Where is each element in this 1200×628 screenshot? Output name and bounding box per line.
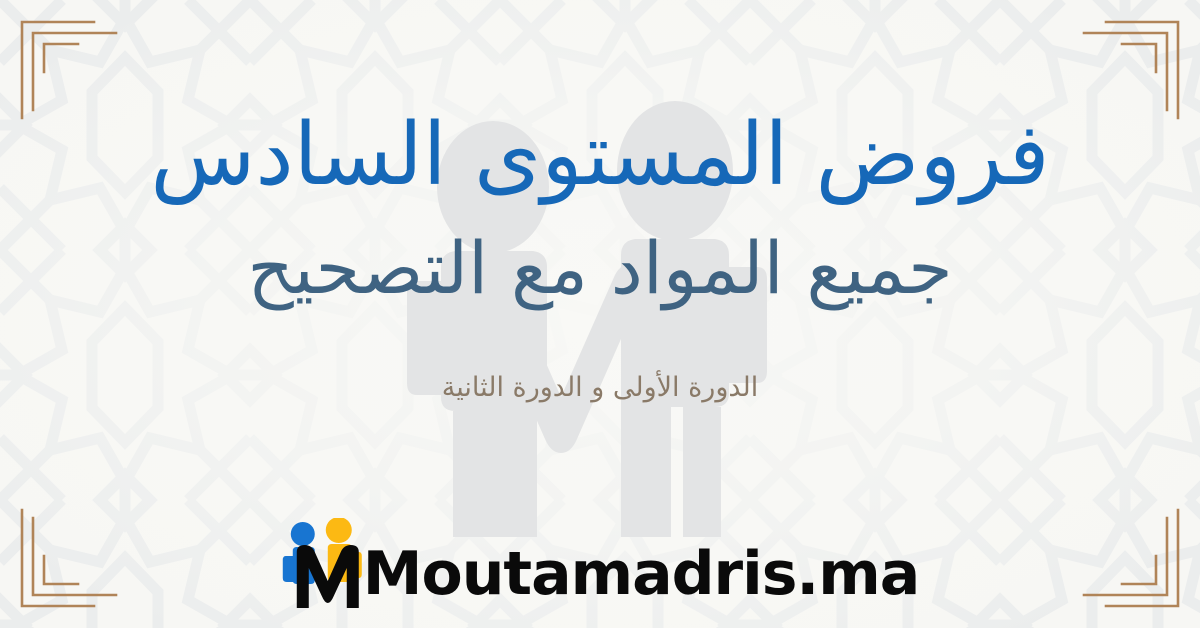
brand-lockup[interactable]: Moutamadris.ma	[281, 518, 919, 610]
poster-canvas: فروض المستوى السادس جميع المواد مع التصح…	[0, 0, 1200, 628]
headline-primary: فروض المستوى السادس	[0, 112, 1200, 198]
two-students-m-logo-icon	[281, 518, 377, 610]
headline-secondary: جميع المواد مع التصحيح	[0, 232, 1200, 304]
headline-subtitle: الدورة الأولى و الدورة الثانية	[0, 372, 1200, 404]
brand-wordmark: Moutamadris.ma	[363, 544, 919, 610]
